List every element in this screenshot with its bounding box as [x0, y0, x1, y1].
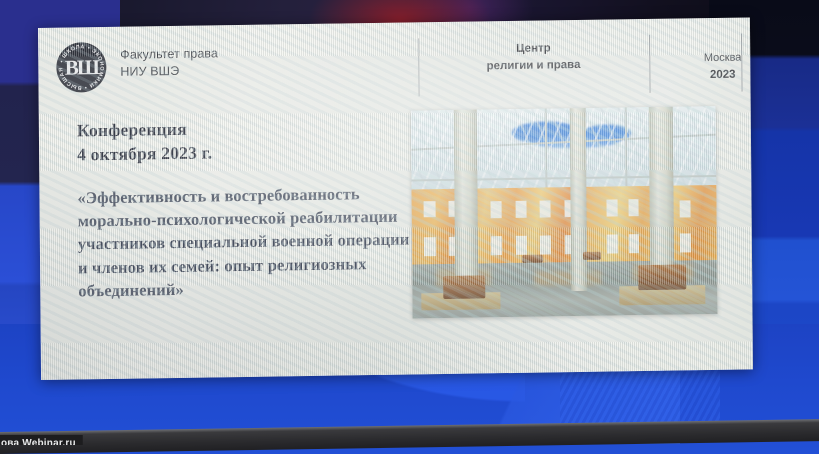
slide-text-column: Конференция 4 октября 2023 г. «Эффективн…	[39, 108, 413, 380]
center-line-1: Центр	[486, 40, 580, 58]
faculty-line-1: Факультет права	[120, 45, 218, 64]
year-value: 2023	[704, 66, 742, 84]
photo-screen-tint	[411, 106, 718, 319]
hse-logo: • ШКОЛА • ЭКОНОМИКИ • ВЫСШАЯ ВШ	[56, 42, 106, 93]
header-divider-1	[418, 38, 419, 96]
city-year-label: Москва 2023	[704, 50, 742, 84]
header-divider-2	[649, 35, 650, 93]
projection-room: • ШКОЛА • ЭКОНОМИКИ • ВЫСШАЯ ВШ Факульте…	[0, 0, 819, 454]
header-divider-3	[741, 34, 742, 92]
slide-body: Конференция 4 октября 2023 г. «Эффективн…	[39, 103, 753, 380]
slide-photo-column	[411, 103, 753, 374]
faculty-label: Факультет права НИУ ВШЭ	[120, 45, 218, 81]
slide-header: • ШКОЛА • ЭКОНОМИКИ • ВЫСШАЯ ВШ Факульте…	[56, 28, 743, 110]
city-name: Москва	[704, 50, 742, 67]
presentation-slide: • ШКОЛА • ЭКОНОМИКИ • ВЫСШАЯ ВШ Факульте…	[38, 17, 753, 380]
hse-logo-monogram: ВШ	[56, 42, 106, 93]
conference-title: «Эффективность и востребованность мораль…	[77, 181, 412, 303]
atrium-photo	[411, 106, 718, 319]
center-label: Центр религии и права	[486, 40, 580, 75]
conference-line-2: 4 октября 2023 г.	[77, 138, 411, 167]
center-line-2: религии и права	[487, 57, 581, 75]
faculty-line-2: НИУ ВШЭ	[120, 63, 218, 82]
